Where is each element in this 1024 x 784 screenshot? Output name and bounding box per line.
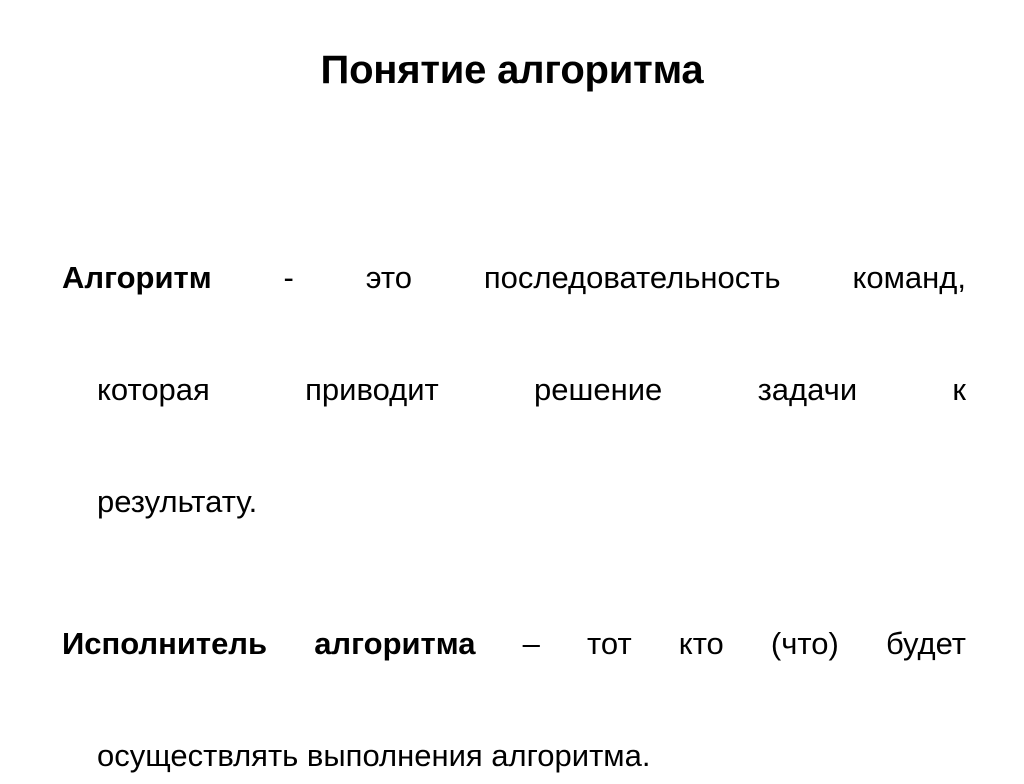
paragraph-line-text: которая приводит решение задачи к <box>97 372 966 407</box>
paragraph-line: осуществлять выполнения алгоритма. <box>97 728 966 784</box>
paragraph-executor-definition: Исполнитель алгоритма – тот кто (что) бу… <box>62 616 966 784</box>
term-lead-algorithm: Алгоритм <box>62 260 212 295</box>
paragraph-line: результату. <box>97 474 966 530</box>
paragraph-spacer <box>62 530 966 616</box>
slide-canvas: Понятие алгоритма Алгоритм - это последо… <box>0 0 1024 767</box>
page-title: Понятие алгоритма <box>0 47 1024 94</box>
paragraph-line: которая приводит решение задачи к <box>97 362 966 474</box>
paragraph-line-text: результату. <box>97 484 257 519</box>
paragraph-line-text: осуществлять выполнения алгоритма. <box>97 738 650 773</box>
term-separator: – <box>476 626 588 661</box>
paragraph-line: Исполнитель алгоритма – тот кто (что) бу… <box>62 616 966 728</box>
slide-body: Алгоритм - это последовательность команд… <box>62 250 966 784</box>
paragraph-algorithm-definition: Алгоритм - это последовательность команд… <box>62 250 966 530</box>
paragraph-line: Алгоритм - это последовательность команд… <box>62 250 966 362</box>
paragraph-line-text: это последовательность команд, <box>366 260 966 295</box>
paragraph-line-text: тот кто (что) будет <box>587 626 966 661</box>
term-separator: - <box>212 260 366 295</box>
term-lead-executor: Исполнитель алгоритма <box>62 626 476 661</box>
